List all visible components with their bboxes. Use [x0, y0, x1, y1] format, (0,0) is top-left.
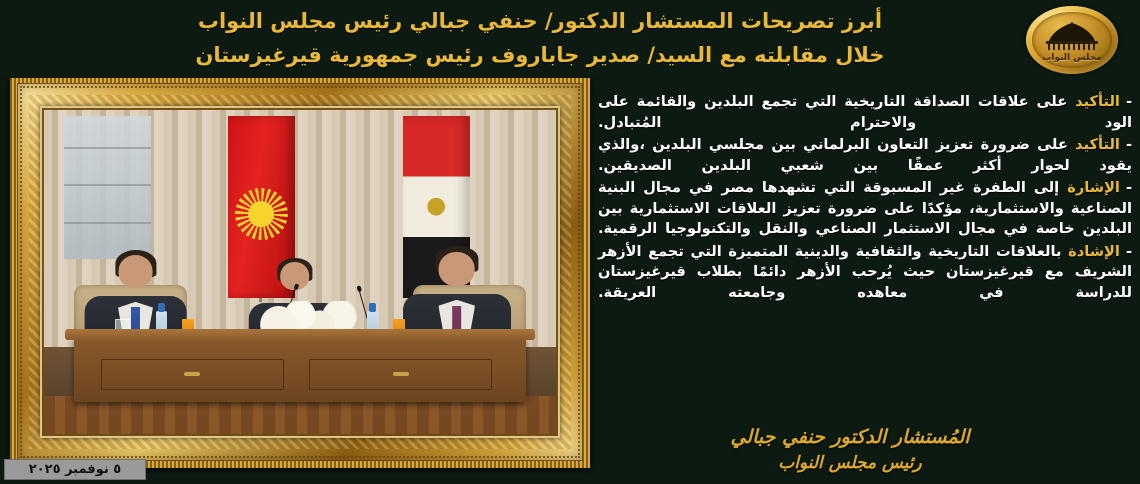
- header-line-1: أبرز تصريحات المستشار الدكتور/ حنفي جبال…: [60, 4, 1020, 38]
- table-drawer: [309, 359, 492, 390]
- window-pane: [64, 116, 151, 259]
- bullet-marker: -: [1126, 136, 1132, 153]
- signature-name: المُستشار الدكتور حنفي جبالي: [590, 424, 1110, 450]
- bullet-keyword: الإشارة: [1067, 179, 1120, 196]
- table-top: [65, 329, 535, 341]
- list-item: -الإشادة بالعلاقات التاريخية والثقافية و…: [598, 242, 1132, 304]
- bullet-text: بالعلاقات التاريخية والثقافية والدينية ا…: [598, 243, 1132, 301]
- dome-building-icon: [1043, 21, 1101, 51]
- list-item: -التأكيد على ضرورة تعزيز التعاون البرلما…: [598, 135, 1132, 176]
- parliament-logo: مجلس النواب: [1026, 6, 1118, 74]
- header-title-block: أبرز تصريحات المستشار الدكتور/ حنفي جبال…: [60, 4, 1020, 72]
- list-item: -التأكيد على علاقات الصداقة التاريخية ال…: [598, 92, 1132, 133]
- bullet-keyword: التأكيد: [1075, 136, 1120, 153]
- bullet-keyword: التأكيد: [1075, 93, 1120, 110]
- bullet-marker: -: [1126, 179, 1132, 196]
- head: [118, 255, 153, 288]
- signature-block: المُستشار الدكتور حنفي جبالي رئيس مجلس ا…: [590, 424, 1110, 476]
- infographic-canvas: أبرز تصريحات المستشار الدكتور/ حنفي جبال…: [0, 0, 1140, 484]
- egypt-eagle-emblem: [425, 195, 448, 218]
- bullet-text: على ضرورة تعزيز التعاون البرلماني بين مج…: [598, 136, 1132, 174]
- table-drawer: [101, 359, 284, 390]
- list-item: -الإشارة إلى الطفرة غير المسبوقة التي تش…: [598, 178, 1132, 240]
- bullet-text: على علاقات الصداقة التاريخية التي تجمع ا…: [598, 93, 1132, 131]
- header-line-2: خلال مقابلته مع السيد/ صدير جاباروف رئيس…: [60, 38, 1020, 72]
- bullet-text: إلى الطفرة غير المسبوقة التي تشهدها مصر …: [598, 179, 1132, 237]
- header-bar: أبرز تصريحات المستشار الدكتور/ حنفي جبال…: [0, 0, 1140, 78]
- date-badge: ٥ نوفمبر ٢٠٢٥: [4, 459, 146, 480]
- drawer-knob: [393, 372, 409, 376]
- meeting-photograph: [10, 76, 590, 468]
- logo-inner-disc: مجلس النواب: [1032, 12, 1111, 68]
- statements-list: -التأكيد على علاقات الصداقة التاريخية ال…: [598, 92, 1132, 305]
- photo-content: [43, 109, 557, 435]
- bullet-marker: -: [1126, 243, 1132, 260]
- kyrgyz-sun-disc: [244, 197, 279, 232]
- logo-caption: مجلس النواب: [1032, 53, 1111, 63]
- bullet-keyword: الإشادة: [1068, 243, 1120, 260]
- coffee-table: [74, 337, 526, 402]
- drawer-knob: [184, 372, 200, 376]
- head: [438, 252, 475, 286]
- bullet-marker: -: [1126, 93, 1132, 110]
- signature-title: رئيس مجلس النواب: [590, 450, 1110, 476]
